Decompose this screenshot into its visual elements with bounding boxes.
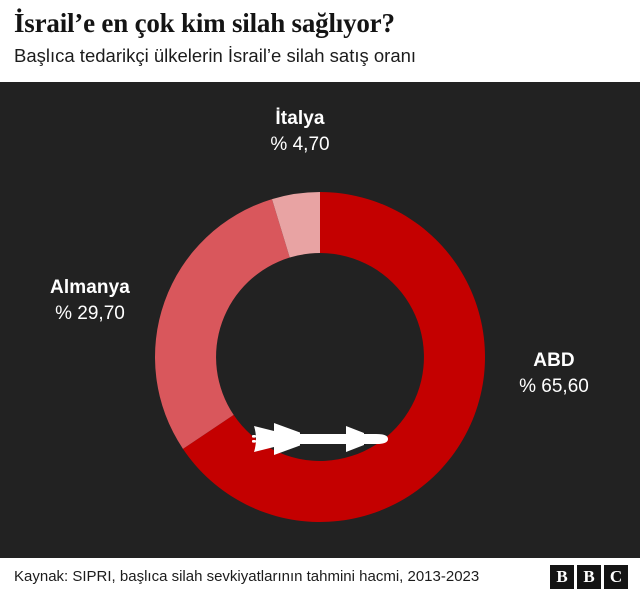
chart-page: İsrail’e en çok kim silah sağlıyor? Başl… [0, 0, 640, 595]
slice-label-abd: ABD % 65,60 [474, 349, 634, 398]
missile-icon-svg [252, 418, 392, 460]
bbc-logo-letter-3: C [604, 565, 628, 589]
slice-label-almanya-value: % 29,70 [6, 302, 174, 325]
slice-label-abd-value: % 65,60 [474, 375, 634, 398]
bbc-logo: B B C [550, 565, 628, 589]
source-note: Kaynak: SIPRI, başlıca silah sevkiyatlar… [14, 568, 479, 585]
page-title: İsrail’e en çok kim silah sağlıyor? [14, 6, 626, 40]
page-subtitle: Başlıca tedarikçi ülkelerin İsrail’e sil… [14, 43, 626, 69]
slice-label-almanya-name: Almanya [6, 276, 174, 299]
donut-slice-almanya[interactable] [155, 199, 290, 449]
donut-chart [155, 192, 485, 522]
bbc-logo-letter-2: B [577, 565, 601, 589]
donut-svg [155, 192, 485, 522]
slice-label-italya-value: % 4,70 [205, 133, 395, 156]
chart-footer: Kaynak: SIPRI, başlıca silah sevkiyatlar… [0, 558, 640, 595]
slice-label-italya: İtalya % 4,70 [205, 107, 395, 156]
chart-panel: İtalya % 4,70 Almanya % 29,70 ABD % 65,6… [0, 82, 640, 558]
missile-icon [252, 418, 392, 460]
bbc-logo-letter-1: B [550, 565, 574, 589]
slice-label-almanya: Almanya % 29,70 [6, 276, 174, 325]
slice-label-abd-name: ABD [474, 349, 634, 372]
chart-header: İsrail’e en çok kim silah sağlıyor? Başl… [0, 0, 640, 82]
slice-label-italya-name: İtalya [205, 107, 395, 130]
